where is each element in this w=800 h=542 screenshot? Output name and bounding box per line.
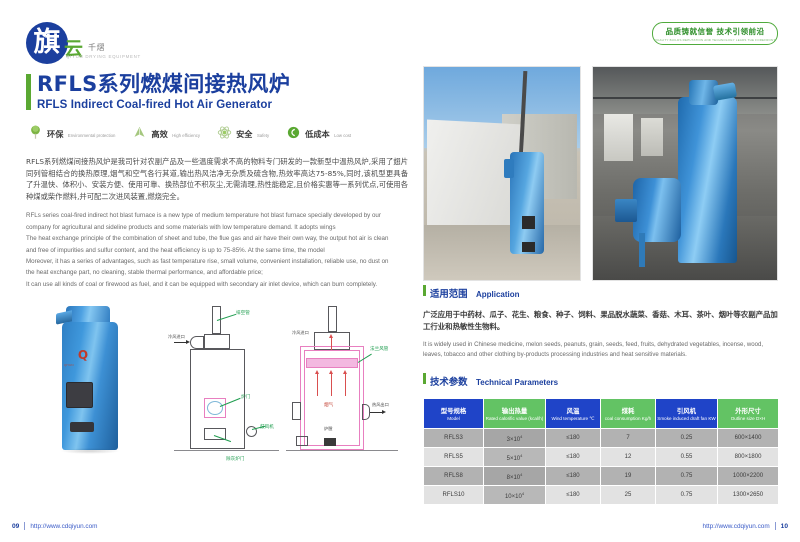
application-heading-cn: 适用范围: [430, 289, 468, 300]
feature-text-lowcost: 低成本 Low cost: [305, 124, 351, 142]
product-photo-gallery: [423, 66, 778, 281]
furnace-brand-logo: Q: [70, 348, 96, 364]
tech-accent-bar: [423, 373, 426, 384]
footer-right: http://www.cdqiyun.com 10: [703, 522, 788, 530]
photo-fan-motor: [615, 199, 637, 222]
left-column: 旗 云 千熠 QIYUN DRYING EQUIPMENT RFLS系列燃煤间接…: [26, 22, 408, 291]
feature-text-environmental: 环保 Environmental protection: [47, 124, 115, 142]
cell-coal: 7: [601, 429, 656, 448]
intro-en-line: The heat exchange principle of the combi…: [26, 234, 408, 244]
application-accent-bar: [423, 285, 426, 296]
col-header-windtemp-en: Wind temperature ℃: [547, 416, 599, 422]
photo-ground: [424, 225, 580, 280]
cell-calorific-base: 5×10: [507, 456, 521, 462]
feature-label-cn: 环保: [47, 129, 63, 139]
page-title: RFLS系列燃煤间接热风炉 RFLS Indirect Coal-fired H…: [26, 72, 408, 111]
cell-size: 1300×2650: [718, 486, 779, 505]
feature-label-en: Low cost: [334, 133, 351, 138]
feature-label-cn: 安全: [236, 129, 252, 139]
schematic-front-view: 排空管 冷风进口 炉门 鼓风机 除灰炉门: [168, 298, 283, 478]
cell-calorific: 8×104: [484, 467, 546, 486]
photo-draft-fan: [633, 178, 681, 242]
intro-en-line: It can use all kinds of coal or firewood…: [26, 280, 408, 290]
section-chimney: [328, 306, 337, 332]
application-heading-en: Application: [476, 290, 520, 299]
ground-line: [174, 450, 279, 451]
burner-block: [324, 438, 336, 446]
feature-text-efficiency: 高效 High efficiency: [151, 124, 200, 142]
title-chinese: RFLS系列燃煤间接热风炉: [37, 72, 408, 96]
intro-en-line: RFLs series coal-fired indirect hot blas…: [26, 211, 408, 221]
product-photo-workshop: [592, 66, 778, 281]
label-fire-chamber: 炉膛: [324, 426, 332, 432]
cell-calorific: 5×104: [484, 448, 546, 467]
application-text-en: It is widely used in Chinese medicine, m…: [423, 340, 778, 360]
intro-en-line: the heat exchange part, no cleaning, sta…: [26, 268, 408, 278]
application-heading: 适用范围 Application: [423, 284, 778, 302]
furnace-door-circle: [207, 401, 223, 415]
col-header-model-en: Model: [425, 416, 482, 422]
tech-section: 技术参数 Technical Parameters 型号规格 Model 输出热…: [423, 372, 778, 505]
ribbon-text-cn: 品质铸就信誉 技术引领前沿: [666, 26, 765, 37]
footer-url-left[interactable]: http://www.cdqiyun.com: [30, 523, 97, 530]
product-photo-furnace: Q QIYUN: [54, 302, 126, 452]
application-section: 适用范围 Application 广泛应用于中药材、瓜子、花生、粮食、种子、饲料…: [423, 284, 778, 360]
flue-arrow-stem-2: [331, 374, 332, 396]
inlet-arrow-head: [186, 340, 190, 344]
col-header-model-cn: 型号规格: [425, 406, 482, 415]
col-header-windtemp-cn: 风温: [547, 406, 599, 415]
col-header-calorific: 输出热量 Rated calorific value (kcal/h): [484, 399, 546, 429]
col-header-calorific-en: Rated calorific value (kcal/h): [485, 416, 544, 422]
table-row: RFLS3 3×104 ≤180 7 0.25 600×1400: [424, 429, 779, 448]
furnace-door: [66, 382, 93, 408]
product-photo-outdoor: [423, 66, 581, 281]
application-text-cn: 广泛应用于中药材、瓜子、花生、粮食、种子、饲料、果品脱水蔬菜、香菇、木耳、茶叶、…: [423, 309, 778, 333]
label-furnace-door: 炉门: [241, 394, 250, 400]
feature-item-safety: 安全 Safety: [217, 124, 269, 142]
feature-label-cn: 高效: [151, 129, 167, 139]
cell-size: 600×1400: [718, 429, 779, 448]
feature-list: 环保 Environmental protection 高效 High effi…: [26, 124, 408, 142]
col-header-fan-en: Smoke induced draft fan KW: [657, 416, 716, 422]
table-header: 型号规格 Model 输出热量 Rated calorific value (k…: [424, 399, 779, 429]
cell-calorific-base: 10×10: [505, 494, 522, 500]
cell-fan: 0.75: [656, 486, 718, 505]
table-row: RFLS8 8×104 ≤180 19 0.75 1000×2200: [424, 467, 779, 486]
cell-calorific-exp: 4: [520, 453, 522, 458]
page-number-left: 09: [12, 523, 19, 530]
cell-calorific-base: 8×10: [507, 475, 521, 481]
intro-en-line: Moreover, it has a series of advantages,…: [26, 257, 408, 267]
title-english: RFLS Indirect Coal-fired Hot Air Generat…: [37, 99, 408, 111]
label-hot-air-outlet: 热风出口: [372, 402, 389, 408]
feature-item-efficiency: 高效 High efficiency: [132, 124, 200, 142]
furnace-brand-sub: QIYUN: [64, 363, 74, 367]
logo-company-cn: 千熠: [88, 42, 105, 53]
footer-divider-left: [24, 522, 25, 530]
furnace-ash-door: [70, 422, 94, 432]
photo-furnace-door-1: [522, 216, 534, 229]
tech-heading-cn: 技术参数: [430, 377, 468, 388]
section-ground-line: [286, 450, 398, 451]
flue-arrow-head-2: [329, 370, 333, 374]
logo-qi-icon: 旗: [26, 22, 68, 64]
heat-exchanger-band: [306, 358, 358, 368]
label-blower: 鼓风机: [260, 424, 274, 430]
flue-arrow-stem-3: [345, 374, 346, 396]
ribbon-text-en: QUALITY BUILDS REPUTATION AND TECHNOLOGY…: [655, 38, 776, 42]
left-lower-port: [292, 402, 301, 420]
table-body: RFLS3 3×104 ≤180 7 0.25 600×1400 RFLS5 5…: [424, 429, 779, 505]
col-header-fan-cn: 引风机: [657, 406, 716, 415]
cell-model: RFLS3: [424, 429, 484, 448]
feature-label-en: High efficiency: [172, 133, 200, 138]
atom-icon: [217, 125, 232, 140]
right-column: 品质铸就信誉 技术引领前沿 QUALITY BUILDS REPUTATION …: [423, 22, 778, 505]
brochure-page: 旗 云 千熠 QIYUN DRYING EQUIPMENT RFLS系列燃煤间接…: [0, 0, 800, 542]
cold-air-inlet-elbow: [190, 336, 204, 349]
cell-calorific-base: 3×10: [507, 437, 521, 443]
intro-paragraph-english: RFLs series coal-fired indirect hot blas…: [26, 211, 408, 290]
flue-arrow-stem-1: [317, 374, 318, 396]
feature-label-cn: 低成本: [305, 129, 330, 139]
page-number-right: 10: [781, 523, 788, 530]
photo-window-1: [604, 114, 633, 161]
cell-windtemp: ≤180: [546, 486, 601, 505]
photo-furnace-nozzle: [504, 159, 515, 178]
leaf-arrow-icon: [132, 125, 147, 140]
cell-coal: 12: [601, 448, 656, 467]
col-header-size: 外形尺寸 Outline size D×H: [718, 399, 779, 429]
photo-furnace-unit: [510, 152, 544, 254]
table-row: RFLS10 10×104 ≤180 25 0.75 1300×2650: [424, 486, 779, 505]
page-footer: 09 http://www.cdqiyun.com http://www.cdq…: [0, 518, 800, 542]
photo-furnace-door-2: [522, 242, 534, 253]
label-cold-air-inlet: 冷风进口: [168, 334, 185, 340]
label-ash-door: 除灰炉门: [226, 456, 244, 462]
cell-windtemp: ≤180: [546, 429, 601, 448]
cell-fan: 0.55: [656, 448, 718, 467]
intro-en-line: company for agricultural and sideline pr…: [26, 223, 408, 233]
label-section-cold-air: 冷风进口: [292, 330, 309, 336]
top-cap: [204, 334, 230, 349]
cell-windtemp: ≤180: [546, 448, 601, 467]
feature-item-environmental: 环保 Environmental protection: [28, 124, 115, 142]
col-header-coal: 煤耗 coal consumption Kg/h: [601, 399, 656, 429]
photo-main-tank: [678, 97, 737, 263]
feature-item-lowcost: 低成本 Low cost: [286, 124, 351, 142]
footer-left: 09 http://www.cdqiyun.com: [12, 522, 97, 530]
col-header-coal-cn: 煤耗: [602, 406, 654, 415]
col-header-windtemp: 风温 Wind temperature ℃: [546, 399, 601, 429]
cell-fan: 0.75: [656, 467, 718, 486]
col-header-calorific-cn: 输出热量: [485, 406, 544, 415]
tech-heading: 技术参数 Technical Parameters: [423, 372, 778, 390]
outlet-arrow-head: [382, 410, 386, 414]
table-row: RFLS5 5×104 ≤180 12 0.55 800×1800: [424, 448, 779, 467]
col-header-size-en: Outline size D×H: [719, 416, 777, 422]
photo-window-2: [641, 118, 663, 156]
feature-label-en: Environmental protection: [68, 133, 116, 138]
hot-air-outlet-port: [362, 404, 370, 420]
cell-size: 1000×2200: [718, 467, 779, 486]
cell-size: 800×1800: [718, 448, 779, 467]
cell-calorific: 3×104: [484, 429, 546, 448]
cell-calorific-exp: 4: [520, 472, 522, 477]
feature-label-en: Safety: [257, 133, 269, 138]
feature-text-safety: 安全 Safety: [236, 124, 269, 142]
chimney-arrow-head: [329, 334, 333, 338]
cell-coal: 25: [601, 486, 656, 505]
label-hot-air-duct: 法兰风管: [370, 346, 388, 352]
diagram-section: Q QIYUN: [26, 296, 408, 501]
cell-calorific-exp: 4: [520, 434, 522, 439]
footer-divider-right: [775, 522, 776, 530]
chimney-arrow-stem: [331, 338, 332, 350]
logo-company-en: QIYUN DRYING EQUIPMENT: [66, 54, 141, 59]
cell-coal: 19: [601, 467, 656, 486]
technical-parameters-table: 型号规格 Model 输出热量 Rated calorific value (k…: [423, 398, 779, 505]
photo-connecting-pipe: [639, 233, 645, 267]
inlet-arrow-stem: [174, 342, 186, 343]
table-header-row: 型号规格 Model 输出热量 Rated calorific value (k…: [424, 399, 779, 429]
flue-arrow-head-1: [315, 370, 319, 374]
cell-windtemp: ≤180: [546, 467, 601, 486]
cell-model: RFLS8: [424, 467, 484, 486]
schematic-section-view: 冷风进口 法兰风管 烟气 热风出口 炉膛: [284, 298, 404, 478]
coin-icon: [286, 125, 301, 140]
title-accent-bar: [26, 74, 31, 110]
cell-fan: 0.25: [656, 429, 718, 448]
intro-paragraph-chinese: RFLS系列燃煤间接热风炉是我司针对农副产品及一些温度需求不高的物料专门研发的一…: [26, 156, 408, 202]
col-header-coal-en: coal consumption Kg/h: [602, 416, 654, 422]
tech-heading-en: Technical Parameters: [476, 378, 558, 387]
label-flue-gas: 烟气: [324, 402, 333, 408]
cell-calorific: 10×104: [484, 486, 546, 505]
outlet-arrow-stem: [370, 412, 382, 413]
ash-port: [296, 436, 308, 446]
flue-arrow-head-3: [343, 370, 347, 374]
cell-model: RFLS10: [424, 486, 484, 505]
tree-icon: [28, 125, 43, 140]
col-header-model: 型号规格 Model: [424, 399, 484, 429]
quality-ribbon: 品质铸就信誉 技术引领前沿 QUALITY BUILDS REPUTATION …: [652, 22, 778, 45]
col-header-size-cn: 外形尺寸: [719, 406, 777, 415]
furnace-shadow: [60, 448, 120, 454]
col-header-fan: 引风机 Smoke induced draft fan KW: [656, 399, 718, 429]
footer-url-right[interactable]: http://www.cdqiyun.com: [703, 523, 770, 530]
company-logo: 旗 云 千熠 QIYUN DRYING EQUIPMENT: [26, 22, 408, 68]
cell-calorific-exp: 4: [522, 491, 524, 496]
intro-en-line: and free of impurities and sulfur conten…: [26, 246, 408, 256]
cell-model: RFLS5: [424, 448, 484, 467]
label-chimney: 排空管: [236, 310, 250, 316]
